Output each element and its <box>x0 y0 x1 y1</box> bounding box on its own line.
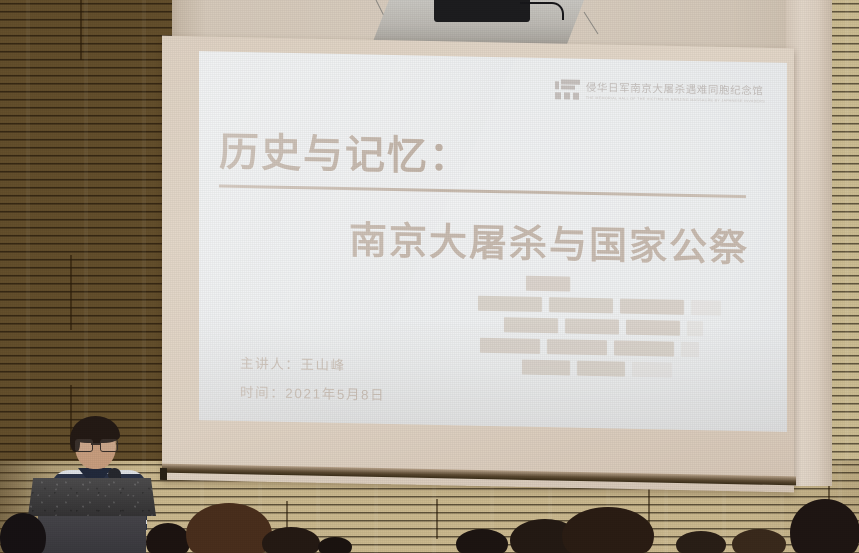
brick <box>480 338 540 354</box>
brick <box>547 339 607 355</box>
audience-head <box>732 529 786 553</box>
eyeglasses-icon <box>75 439 117 450</box>
brick <box>626 320 680 336</box>
wall-seam <box>80 0 82 60</box>
brick <box>526 276 556 292</box>
brick <box>691 300 721 316</box>
brick-row <box>478 296 721 316</box>
audience-head <box>262 527 320 553</box>
slide-title: 历史与记忆： <box>219 119 471 182</box>
brick <box>478 296 542 312</box>
brick-row <box>526 276 556 292</box>
brick <box>549 297 613 313</box>
audience-head <box>676 531 726 553</box>
audience-head <box>0 513 46 553</box>
slide-speaker-line: 主讲人：王山峰 <box>240 352 346 374</box>
projected-slide-area: 侵华日军南京大屠杀遇难同胞纪念馆 THE MEMORIAL HALL OF TH… <box>199 51 787 432</box>
title-divider-rule <box>219 184 746 198</box>
slide-date-line: 时间：2021年5月8日 <box>240 381 385 404</box>
brick-row <box>504 317 703 336</box>
audience-head <box>456 529 508 553</box>
projection-screen-left-tab <box>160 468 167 480</box>
brick <box>522 360 570 376</box>
projector-cable <box>520 2 564 20</box>
brick <box>632 362 672 378</box>
audience-head <box>790 499 859 553</box>
slide-content: 侵华日军南京大屠杀遇难同胞纪念馆 THE MEMORIAL HALL OF TH… <box>199 51 787 432</box>
brick-row <box>522 360 672 378</box>
brick <box>620 299 684 315</box>
memorial-hall-logo-text: 侵华日军南京大屠杀遇难同胞纪念馆 THE MEMORIAL HALL OF TH… <box>586 80 765 104</box>
brick <box>681 342 699 357</box>
audience-head <box>318 537 352 553</box>
projector-housing <box>434 0 530 22</box>
lecture-hall-scene: 侵华日军南京大屠杀遇难同胞纪念馆 THE MEMORIAL HALL OF TH… <box>0 0 859 553</box>
brick <box>565 318 619 334</box>
audience-head <box>562 507 654 553</box>
memorial-hall-logo: 侵华日军南京大屠杀遇难同胞纪念馆 THE MEMORIAL HALL OF TH… <box>555 79 765 103</box>
audience-head <box>146 523 190 553</box>
brick <box>687 321 703 336</box>
wall-seam <box>70 255 72 330</box>
audience-head <box>186 503 272 553</box>
brick <box>614 340 674 356</box>
slide-subtitle: 南京大屠杀与国家公祭 <box>349 209 749 272</box>
memorial-hall-mark-icon <box>555 79 580 100</box>
brick <box>577 361 625 377</box>
audience-row <box>0 493 859 553</box>
brick-row <box>480 338 699 357</box>
faded-brick-wall-graphic <box>464 274 736 375</box>
brick <box>504 317 558 333</box>
